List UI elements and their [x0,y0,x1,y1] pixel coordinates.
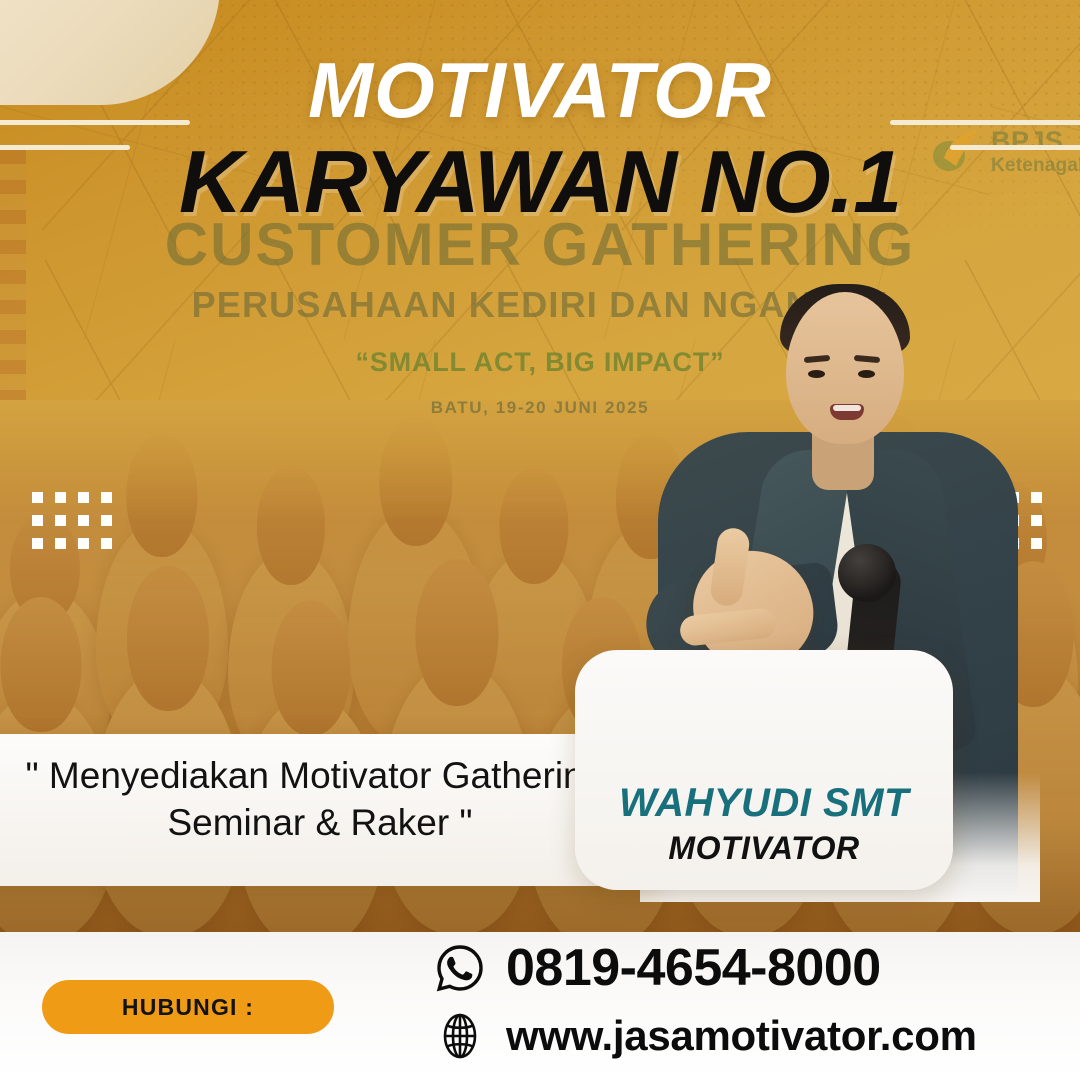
speaker-mouth [830,404,864,420]
speaker-head [786,292,904,444]
bpjs-name: BPJS [991,128,1080,156]
accent-line-right-1 [890,120,1080,125]
bpjs-wordmark: BPJS Ketenagake [991,128,1080,175]
phone-number: 0819-4654-8000 [506,942,881,994]
speaker-eye-right [858,370,875,378]
whatsapp-icon [436,944,484,992]
bpjs-subtitle: Ketenagake [991,156,1080,175]
accent-line-left-2 [0,145,130,150]
contact-phone-row[interactable]: 0819-4654-8000 [436,942,881,994]
globe-icon [436,1012,484,1060]
hubungi-button[interactable]: HUBUNGI : [42,980,334,1034]
website-url: www.jasamotivator.com [506,1015,977,1057]
contact-website-row[interactable]: www.jasamotivator.com [436,1012,977,1060]
quote-text: " Menyediakan Motivator Gathering, Semin… [20,752,620,847]
poster-canvas: CUSTOMER GATHERING PERUSAHAAN KEDIRI DAN… [0,0,1080,1080]
bpjs-leaf-icon [930,128,982,174]
dot-grid-left [32,492,112,549]
halftone-dots-band [150,0,1080,250]
bpjs-logo: BPJS Ketenagake [930,128,1080,175]
speaker-name-card-content: WAHYUDI SMT MOTIVATOR [575,782,953,867]
speaker-name: WAHYUDI SMT [575,782,953,824]
speaker-eye-left [808,370,825,378]
accent-line-left-1 [0,120,190,125]
accent-line-right-2 [950,145,1080,150]
speaker-role: MOTIVATOR [575,830,953,867]
